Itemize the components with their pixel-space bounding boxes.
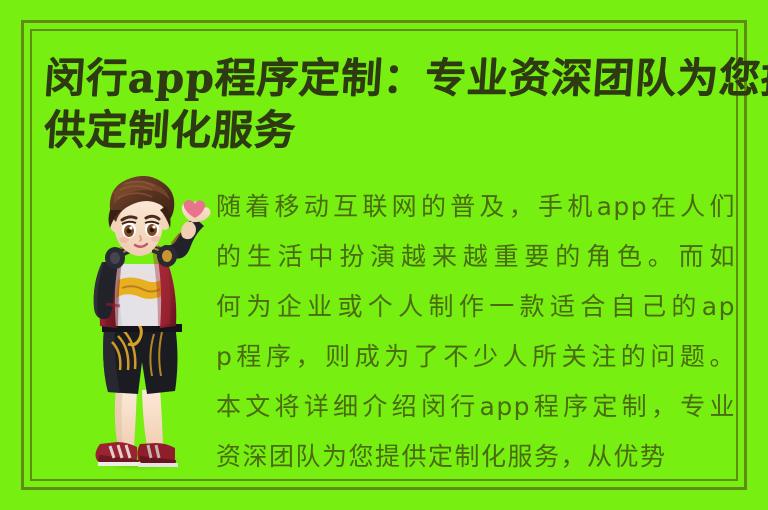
body-line-3: 何为企业或个人制作一款适合自己的ap	[216, 282, 736, 332]
poster-canvas: 闵行app程序定制：专业资深团队为您提 供定制化服务	[0, 0, 768, 510]
right-shoe	[137, 443, 178, 467]
body-line-6: 资深团队为您提供定制化服务，从优势	[216, 432, 736, 482]
body-line-4: p程序，则成为了不少人所关注的问题。	[216, 332, 736, 382]
title-line-1: 闵行app程序定制：专业资深团队为您提	[42, 52, 746, 104]
body-line-5: 本文将详细介绍闵行app程序定制，专业	[216, 382, 736, 432]
left-shoe	[96, 442, 143, 466]
body-text: 随着移动互联网的普及，手机app在人们 的生活中扮演越来越重要的角色。而如 何为…	[216, 182, 736, 482]
page-title: 闵行app程序定制：专业资深团队为您提 供定制化服务	[44, 52, 744, 156]
title-line-2: 供定制化服务	[42, 104, 746, 156]
body-line-1: 随着移动互联网的普及，手机app在人们	[216, 182, 736, 232]
character-illustration	[66, 176, 216, 476]
body-line-2: 的生活中扮演越来越重要的角色。而如	[216, 232, 736, 282]
chibi-boy-icon	[66, 176, 216, 476]
